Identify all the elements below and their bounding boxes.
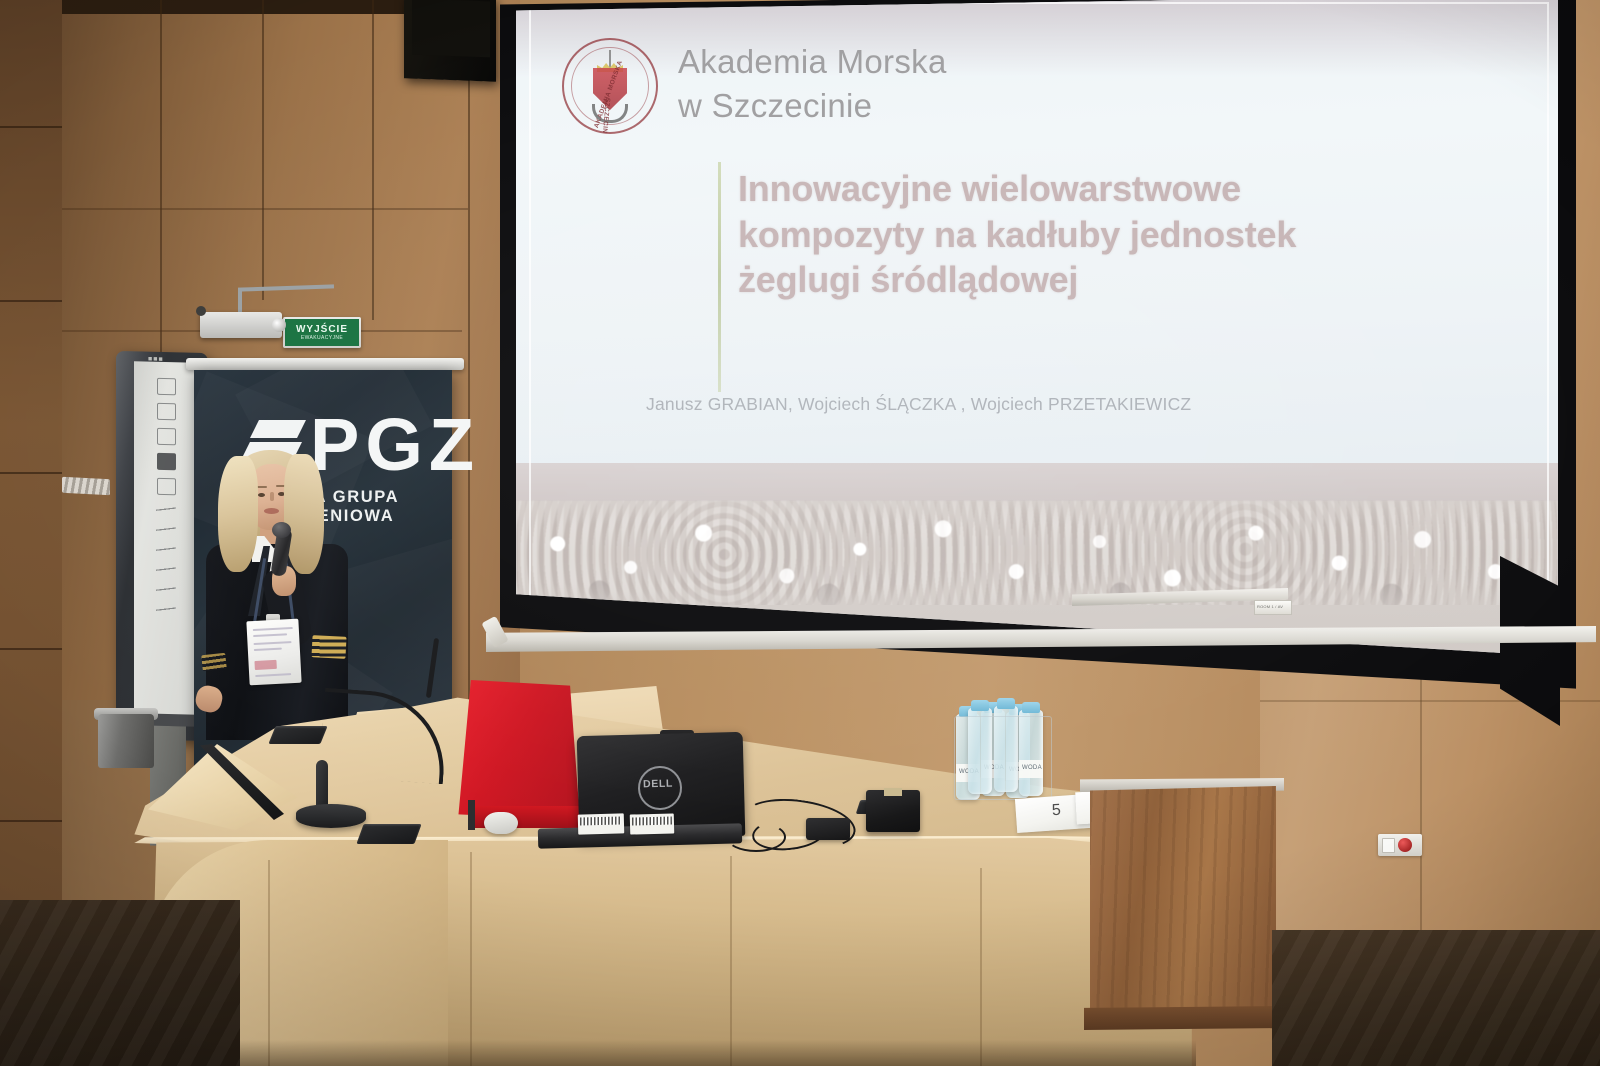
laptop-serial-sticker [630, 813, 675, 834]
pen-icon[interactable] [155, 502, 176, 516]
bottle-pack-wrap [954, 716, 1052, 800]
select-icon[interactable] [157, 478, 176, 495]
shape-icon[interactable] [155, 562, 176, 576]
slide-title: Innowacyjne wielowarstwowe kompozyty na … [738, 166, 1478, 303]
desk-seam [470, 852, 472, 1066]
desk-shadow [150, 1040, 1196, 1066]
power-cable [726, 822, 786, 852]
emergency-button-icon[interactable] [1398, 838, 1412, 852]
redo-icon[interactable] [155, 602, 176, 616]
wall-seam [0, 472, 62, 474]
gooseneck-microphone-base[interactable] [296, 804, 366, 828]
desk-cable-port[interactable] [356, 824, 421, 844]
slide-title-line-2: kompozyty na kadłuby jednostek [738, 212, 1478, 258]
lectern-label-text: ROOM 1 / AV [1257, 604, 1283, 609]
presenter-rank-stripes [311, 635, 346, 659]
projector-knob [196, 306, 206, 316]
institution-line-1: Akademia Morska [678, 40, 947, 84]
wall-seam [0, 648, 62, 650]
whiteboard-brand-label: ■■■ [148, 356, 164, 363]
desk-cable-port[interactable] [268, 726, 327, 744]
presenter-hair-right [284, 454, 324, 574]
exit-sign-line-2: EWAKUACYJNE [301, 335, 343, 341]
outlet-switch-icon[interactable] [1382, 838, 1395, 853]
eraser-icon[interactable] [155, 542, 176, 556]
projector [200, 312, 282, 338]
ceiling-edge [0, 0, 420, 14]
university-crest-icon: AKADEMIA MORSKA SZCZECIN [562, 38, 658, 134]
lectern-label: ROOM 1 / AV [1254, 600, 1292, 615]
power-adapter [806, 818, 850, 840]
wall-seam [160, 0, 162, 360]
wall-seam [0, 126, 62, 128]
projection-screen[interactable]: AKADEMIA MORSKA SZCZECIN Akademia Morska… [516, 0, 1558, 684]
slide-title-line-1: Innowacyjne wielowarstwowe [738, 166, 1478, 212]
chair-leg [468, 800, 475, 830]
desk-seam [980, 868, 982, 1066]
wall-seam [1420, 640, 1422, 960]
microphone-head-icon [272, 522, 291, 538]
slide-authors: Janusz GRABIAN, Wojciech ŚLĄCZKA , Wojci… [646, 394, 1466, 415]
presenter-hair-left [218, 456, 258, 572]
projector-lens-icon [272, 318, 286, 332]
waste-bin [98, 714, 154, 768]
slide-composite-image-fade [516, 501, 1558, 608]
presentation-photo-scene: AKADEMIA MORSKA SZCZECIN Akademia Morska… [0, 0, 1600, 1066]
lectern-base [1084, 1006, 1282, 1030]
slide-accent-rule [718, 162, 721, 392]
wall-speaker-body [412, 0, 490, 57]
exit-sign: WYJŚCIE EWAKUACYJNE [283, 317, 361, 348]
desk-seam [730, 856, 732, 1066]
conference-badge [246, 619, 301, 686]
presenter-nose [270, 492, 274, 501]
laptop-asset-sticker [578, 813, 625, 834]
wall-seam [262, 0, 264, 300]
presenter-rank-stripes-left [201, 653, 227, 671]
whiteboard-toolbar[interactable] [146, 372, 186, 711]
black-device-notch [884, 788, 902, 796]
floor-carpet-right [1272, 930, 1600, 1066]
blank-page-icon[interactable] [157, 428, 176, 445]
banner-top-rail [186, 358, 464, 370]
desk-seam [268, 860, 270, 1066]
wall-seam [468, 0, 470, 700]
paper-number: 5 [1051, 802, 1061, 821]
exit-sign-line-1: WYJŚCIE [296, 325, 348, 335]
fill-icon[interactable] [157, 453, 176, 470]
wall-seam [372, 0, 374, 320]
institution-name: Akademia Morska w Szczecinie [678, 40, 947, 128]
institution-line-2: w Szczecinie [678, 84, 947, 128]
lectern-column [1090, 786, 1276, 1014]
highlighter-icon[interactable] [155, 522, 176, 536]
slide-light-wash [516, 0, 1558, 77]
laptop-brand-label: DELL [641, 778, 675, 791]
wall-seam [0, 820, 62, 822]
wall-vent-grille [62, 477, 110, 496]
wall-seam [62, 208, 468, 210]
slide-title-line-3: żeglugi śródlądowej [738, 257, 1478, 303]
lectern-front-panel [1076, 598, 1288, 782]
floor-carpet-left [0, 900, 240, 1066]
computer-mouse[interactable] [484, 812, 518, 834]
page-next-icon[interactable] [157, 403, 176, 420]
wall-outlet-panel[interactable] [1378, 834, 1422, 856]
presenter-mouth [264, 508, 279, 514]
page-icon[interactable] [157, 378, 176, 395]
red-chair-back[interactable] [456, 680, 580, 820]
wall-seam [0, 300, 62, 302]
undo-icon[interactable] [155, 582, 176, 596]
black-device-stand [866, 790, 920, 832]
